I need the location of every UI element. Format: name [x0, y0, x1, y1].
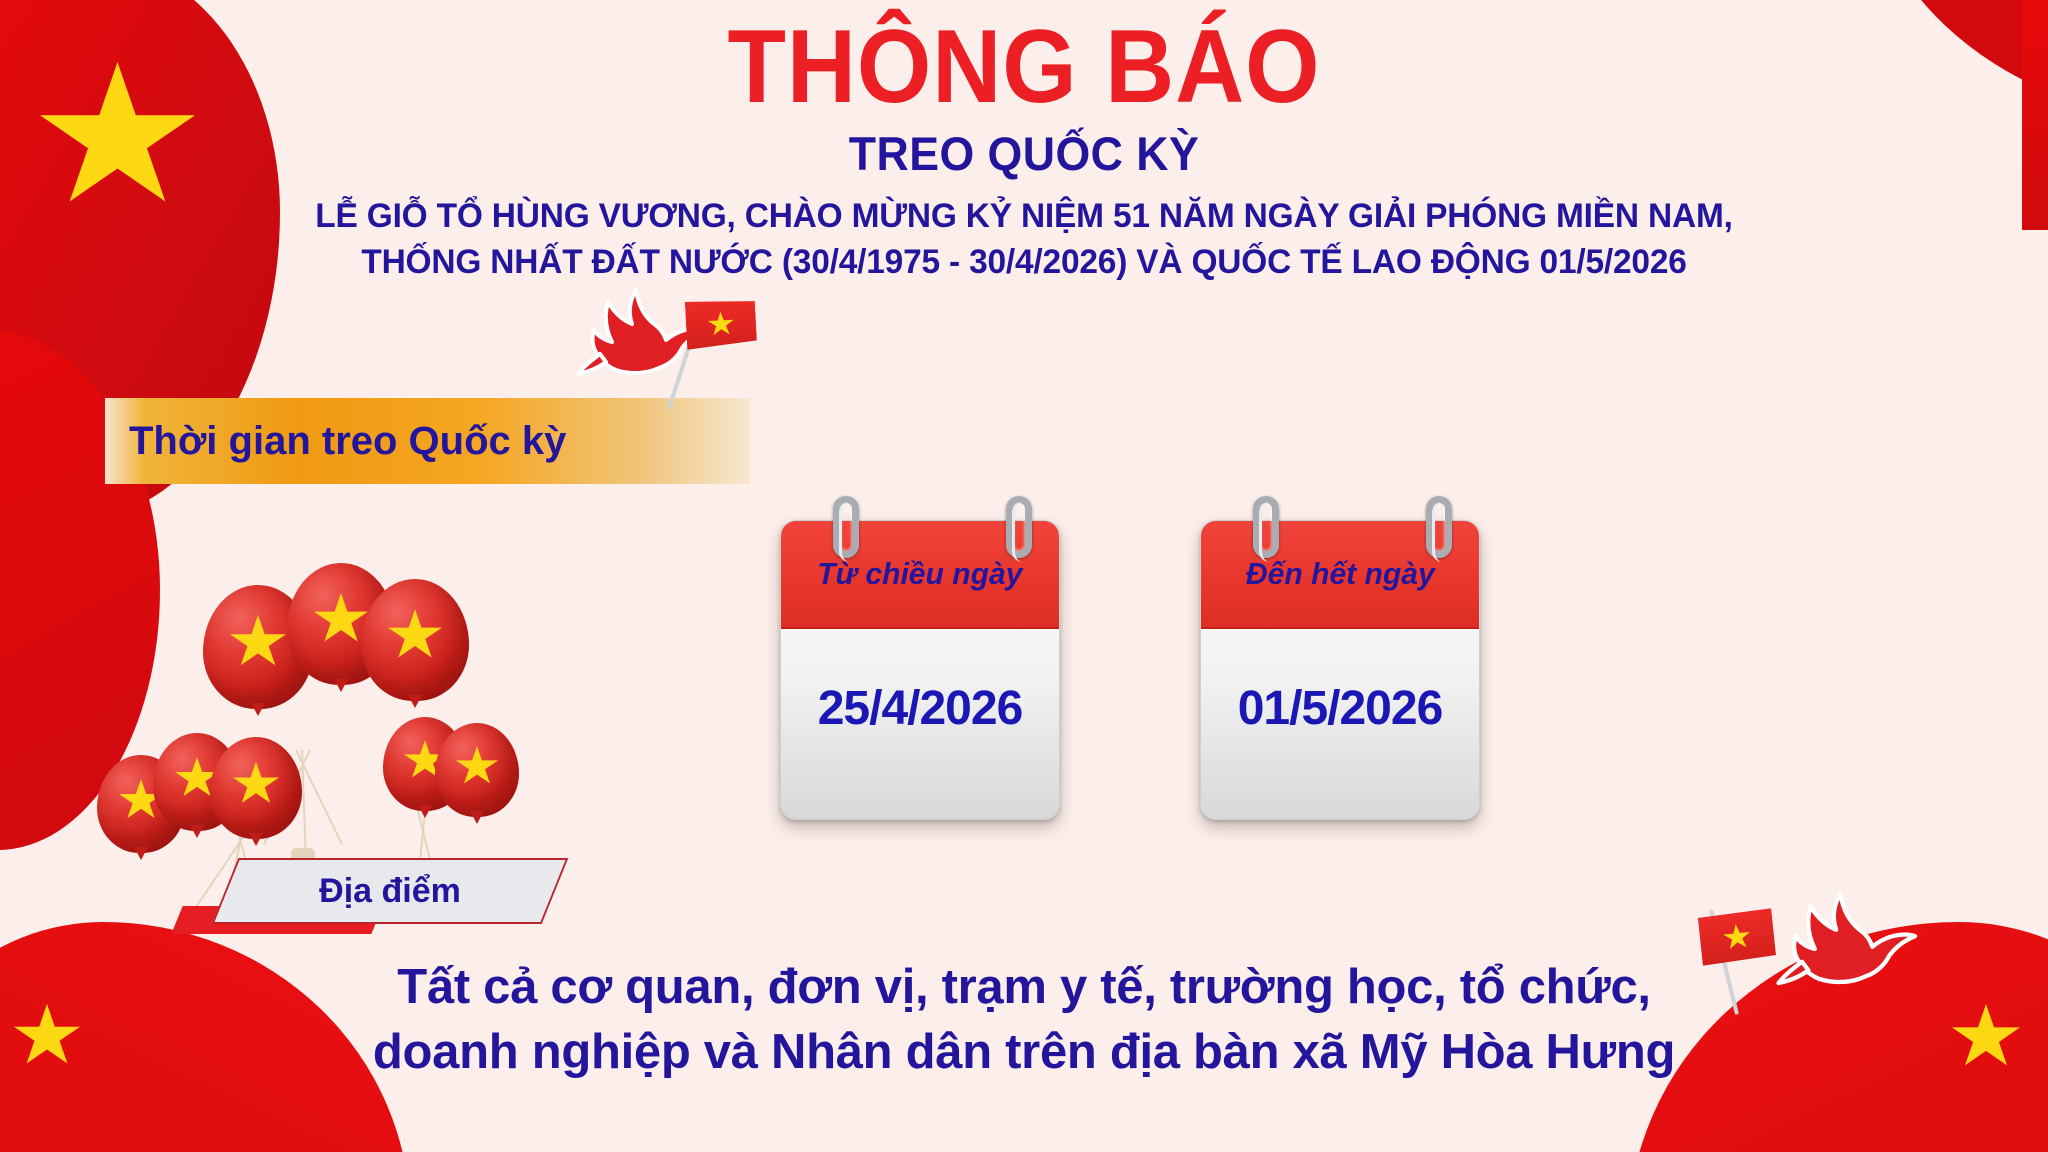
- calendar-ring-icon: [1426, 496, 1452, 558]
- announcement-poster: THÔNG BÁO TREO QUỐC KỲ LỄ GIỖ TỔ HÙNG VƯ…: [0, 0, 2048, 1152]
- description-line-1: LỄ GIỖ TỔ HÙNG VƯƠNG, CHÀO MỪNG KỶ NIỆM …: [31, 193, 2018, 239]
- announcement-description: LỄ GIỖ TỔ HÙNG VƯƠNG, CHÀO MỪNG KỶ NIỆM …: [31, 193, 2018, 285]
- place-label-tag: Địa điểm: [225, 858, 555, 924]
- place-description: Tất cả cơ quan, đơn vị, trạm y tế, trườn…: [0, 955, 2048, 1084]
- calendar-body-start: 25/4/2026: [781, 629, 1059, 820]
- calendar-ring-icon: [1006, 496, 1032, 558]
- dove-icon: [1770, 880, 1930, 1020]
- calendar-date-end: 01/5/2026: [1238, 681, 1443, 736]
- calendar-card-start: Từ chiều ngày 25/4/2026: [780, 520, 1060, 820]
- page-title: THÔNG BÁO: [82, 14, 1966, 120]
- vietnam-flag-icon: [685, 298, 757, 350]
- place-description-line-1: Tất cả cơ quan, đơn vị, trạm y tế, trườn…: [0, 955, 2048, 1020]
- calendar-ring-icon: [1253, 496, 1279, 558]
- description-line-2: THỐNG NHẤT ĐẤT NƯỚC (30/4/1975 - 30/4/20…: [31, 239, 2018, 285]
- calendar-body-end: 01/5/2026: [1201, 629, 1479, 820]
- time-section-banner: Thời gian treo Quốc kỳ: [105, 398, 750, 484]
- calendar-card-end: Đến hết ngày 01/5/2026: [1200, 520, 1480, 820]
- poster-header: THÔNG BÁO TREO QUỐC KỲ LỄ GIỖ TỔ HÙNG VƯ…: [0, 0, 2048, 286]
- calendar-date-start: 25/4/2026: [818, 681, 1023, 736]
- balloon-cluster-icon: [95, 565, 535, 905]
- calendar-ring-icon: [833, 496, 859, 558]
- time-section-label: Thời gian treo Quốc kỳ: [129, 419, 566, 464]
- page-subtitle: TREO QUỐC KỲ: [51, 126, 1997, 181]
- place-label: Địa điểm: [225, 858, 555, 924]
- place-description-line-2: doanh nghiệp và Nhân dân trên địa bàn xã…: [0, 1020, 2048, 1085]
- calendar-header-label: Đến hết ngày: [1246, 556, 1435, 592]
